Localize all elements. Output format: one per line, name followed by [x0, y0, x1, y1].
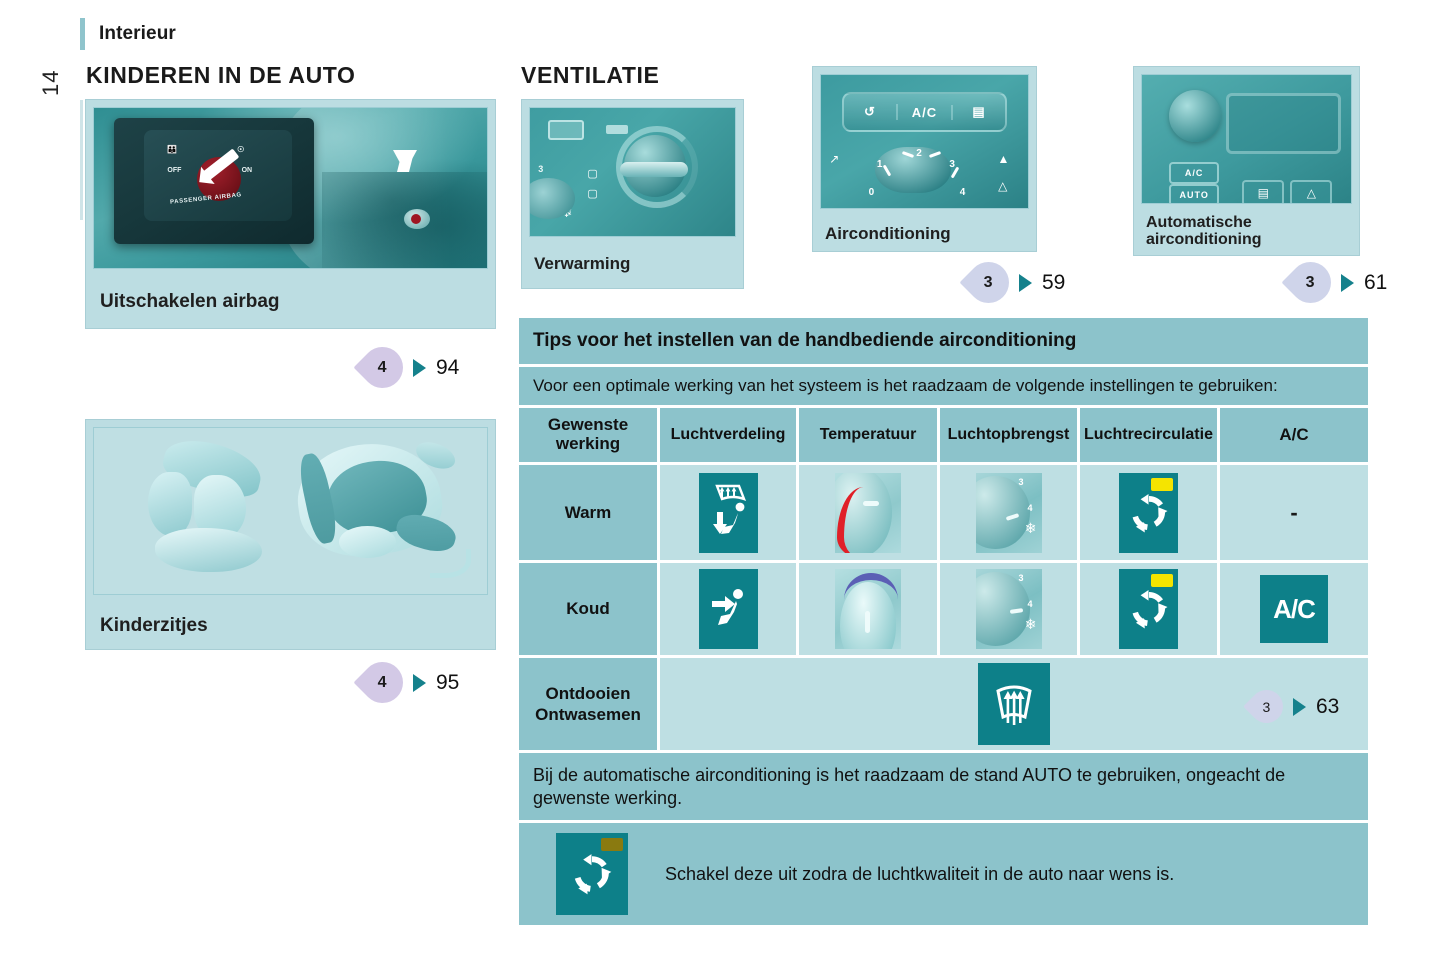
recirculation-icon [556, 833, 628, 915]
rear-demist-button-icon [548, 120, 584, 140]
card-caption: Verwarming [522, 244, 743, 284]
dashboard-scene: 👪 OFF ☉ ON PASSENGER AIRBAG [94, 108, 487, 268]
page-number: 14 [38, 70, 64, 96]
column-header-luchtopbrengst: Luchtopbrengst [940, 408, 1080, 465]
cell-koud-ac: A/C [1220, 563, 1368, 658]
tips-table-title: Tips voor het instellen van de handbedie… [519, 318, 1368, 367]
tips-table-footer: Schakel deze uit zodra de luchtkwaliteit… [519, 823, 1368, 925]
defrost-icon: ▢ [587, 167, 597, 180]
airbag-switch-face: 👪 OFF ☉ ON PASSENGER AIRBAG [144, 130, 292, 221]
section-heading-kinderen: KINDEREN IN DE AUTO [86, 62, 356, 89]
cold-zone-indicator [844, 573, 898, 613]
chapter-number: 4 [378, 674, 387, 692]
ac-button: A/C [1169, 162, 1219, 184]
card-caption: Automatische airconditioning [1134, 211, 1359, 255]
dial-number-0: 0 [869, 187, 875, 198]
windscreen-demist-button-icon: △ [1290, 180, 1332, 204]
tips-table-intro: Voor een optimale werking van het systee… [519, 367, 1368, 408]
chapter-pin: 4 [354, 339, 412, 397]
cell-koud-luchtopbrengst: 3 4 ❄ [940, 563, 1080, 658]
row-label-line1: Ontdooien [535, 683, 641, 704]
row-label-line2: Ontwasemen [535, 704, 641, 725]
warm-ac-value: - [1290, 500, 1297, 526]
footwell-icon: △ [998, 179, 1007, 193]
table-row-warm: Warm [519, 465, 1368, 563]
dial-number-1: 1 [877, 159, 883, 170]
reference-triangle-icon [1019, 274, 1032, 292]
reference-59[interactable]: 3 59 [968, 262, 1065, 303]
card-automatische-airconditioning: A/C AUTO ▤ △ Automatische airconditionin… [1133, 66, 1360, 256]
reference-95[interactable]: 4 95 [362, 662, 459, 703]
knob-pointer-bar [620, 162, 688, 177]
rear-demist-button-icon: ▤ [1242, 180, 1284, 204]
fan-speed-dial-high: 3 4 ❄ [976, 569, 1042, 649]
chapter-number: 3 [984, 274, 993, 292]
auto-button: AUTO [1169, 184, 1219, 204]
tips-table-header-row: Gewenste werking Luchtverdeling Temperat… [519, 408, 1368, 465]
row-label-koud: Koud [519, 563, 660, 658]
temperature-knob [1169, 90, 1221, 142]
reference-triangle-icon [413, 359, 426, 377]
column-header-ac: A/C [1220, 408, 1368, 465]
cell-warm-luchtverdeling [660, 465, 799, 563]
ac-on-icon: A/C [1260, 575, 1328, 643]
kinderzitjes-photo [93, 427, 488, 595]
ac-button-label: A/C [898, 105, 953, 120]
airbag-switch-panel: 👪 OFF ☉ ON PASSENGER AIRBAG [114, 118, 314, 244]
cell-warm-ac: - [1220, 465, 1368, 563]
reference-page-number: 95 [436, 671, 459, 695]
dial-tick-3: 3 [538, 164, 543, 174]
card-caption: Airconditioning [813, 216, 1036, 251]
reference-triangle-icon [1341, 274, 1354, 292]
recirculation-led-indicator [601, 838, 623, 851]
card-airconditioning: ↺ A/C ▤ 0 1 2 3 4 ▲ △ ↗ Airconditioning [812, 66, 1037, 252]
row-label-warm: Warm [519, 465, 660, 563]
airflow-distribution-icon: ↗ [829, 152, 839, 166]
cell-koud-temperatuur [799, 563, 940, 658]
heating-controls-scene: 3 4 ❄ ▢ ▢ [530, 108, 735, 236]
column-header-luchtrecirculatie: Luchtrecirculatie [1080, 408, 1220, 465]
recirculation-button-icon: ↺ [844, 104, 899, 120]
callout-arrow-icon [393, 150, 417, 172]
dial-number-3: 3 [949, 159, 955, 170]
cell-koud-luchtverdeling [660, 563, 799, 658]
reference-triangle-icon [413, 674, 426, 692]
recirculation-led-indicator [1151, 574, 1173, 587]
rear-defrost-button-icon: ▤ [953, 104, 1006, 120]
table-row-koud: Koud 3 4 ❄ [519, 563, 1368, 658]
child-seats-scene [94, 428, 487, 594]
recirculation-on-icon [1119, 569, 1178, 649]
fan-speed-dial-low: 3 4 ❄ [976, 473, 1042, 553]
recirculation-led-indicator [1151, 478, 1173, 491]
chapter-pin: 3 [1282, 254, 1340, 312]
column-header-luchtverdeling: Luchtverdeling [660, 408, 799, 465]
card-uitschakelen-airbag: 👪 OFF ☉ ON PASSENGER AIRBAG Uitschakelen… [85, 99, 496, 329]
temperature-dial-hot [835, 473, 901, 553]
card-kinderzitjes: Kinderzitjes [85, 419, 496, 650]
verwarming-photo: 3 4 ❄ ▢ ▢ [529, 107, 736, 237]
airconditioning-photo: ↺ A/C ▤ 0 1 2 3 4 ▲ △ ↗ [820, 74, 1029, 209]
windscreen-demist-icon [978, 663, 1050, 745]
column-header-temperatuur: Temperatuur [799, 408, 940, 465]
chapter-pin: 3 [1243, 683, 1290, 730]
reference-61[interactable]: 3 61 [1290, 262, 1387, 303]
reference-63[interactable]: 3 63 [1250, 690, 1339, 723]
temperature-dial-cold [835, 569, 901, 649]
reference-triangle-icon [1293, 698, 1306, 716]
tips-table: Tips voor het instellen van de handbedie… [519, 318, 1368, 925]
column-header-gewenste-werking: Gewenste werking [519, 408, 660, 465]
cell-koud-luchtrecirculatie [1080, 563, 1220, 658]
reference-page-number: 59 [1042, 271, 1065, 295]
reference-page-number: 61 [1364, 271, 1387, 295]
automatische-airconditioning-photo: A/C AUTO ▤ △ [1141, 74, 1352, 204]
reference-page-number: 63 [1316, 695, 1339, 719]
tips-table-note: Bij de automatische airconditioning is h… [519, 753, 1368, 823]
chapter-number: 3 [1263, 698, 1271, 714]
airbag-on-label: ON [242, 167, 253, 174]
breadcrumb-rule [80, 18, 85, 50]
chapter-number: 4 [378, 359, 387, 377]
breadcrumb: Interieur [80, 18, 176, 50]
card-caption: Uitschakelen airbag [86, 276, 495, 328]
cell-warm-luchtrecirculatie [1080, 465, 1220, 563]
ac-button-bar: ↺ A/C ▤ [842, 92, 1008, 132]
airbag-off-label: OFF [167, 167, 181, 174]
dial-number-2: 2 [916, 148, 922, 159]
dial-number-4: 4 [960, 187, 966, 198]
card-verwarming: 3 4 ❄ ▢ ▢ Verwarming [521, 99, 744, 289]
chapter-number: 3 [1306, 274, 1315, 292]
recirculation-on-icon [1119, 473, 1178, 553]
display-screen [1226, 93, 1341, 154]
ac-icon-label: A/C [1273, 594, 1315, 625]
row-label-ontdooien: Ontdooien Ontwasemen [519, 658, 660, 753]
face-level-airflow-icon [699, 569, 758, 649]
reference-94[interactable]: 4 94 [362, 347, 459, 388]
footer-icon-wrap [519, 833, 665, 915]
auto-ac-controls-scene: A/C AUTO ▤ △ [1142, 75, 1351, 203]
footwell-and-windscreen-airflow-icon [699, 473, 758, 553]
airflow-icon: ▢ [587, 187, 597, 200]
chapter-pin: 3 [960, 254, 1018, 312]
page-edge-rule [80, 100, 83, 220]
table-row-ontdooien: Ontdooien Ontwasemen [519, 658, 1368, 753]
section-heading-ventilatie: VENTILATIE [521, 62, 659, 89]
airbag-off-icon: 👪 [167, 145, 177, 154]
card-caption: Kinderzitjes [86, 602, 495, 650]
airbag-on-icon: ☉ [237, 145, 244, 154]
cell-warm-luchtopbrengst: 3 4 ❄ [940, 465, 1080, 563]
baby-seat-illustration [283, 438, 472, 584]
footer-text: Schakel deze uit zodra de luchtkwaliteit… [665, 864, 1174, 885]
indicator-chip [606, 125, 628, 134]
cell-warm-temperatuur [799, 465, 940, 563]
booster-seat-illustration [145, 441, 275, 580]
reference-page-number: 94 [436, 356, 459, 380]
chapter-pin: 4 [354, 654, 412, 712]
airbag-photo: 👪 OFF ☉ ON PASSENGER AIRBAG [93, 107, 488, 269]
ac-controls-scene: ↺ A/C ▤ 0 1 2 3 4 ▲ △ ↗ [821, 75, 1028, 208]
breadcrumb-label: Interieur [99, 23, 176, 45]
windscreen-demist-icon: ▲ [997, 152, 1009, 166]
